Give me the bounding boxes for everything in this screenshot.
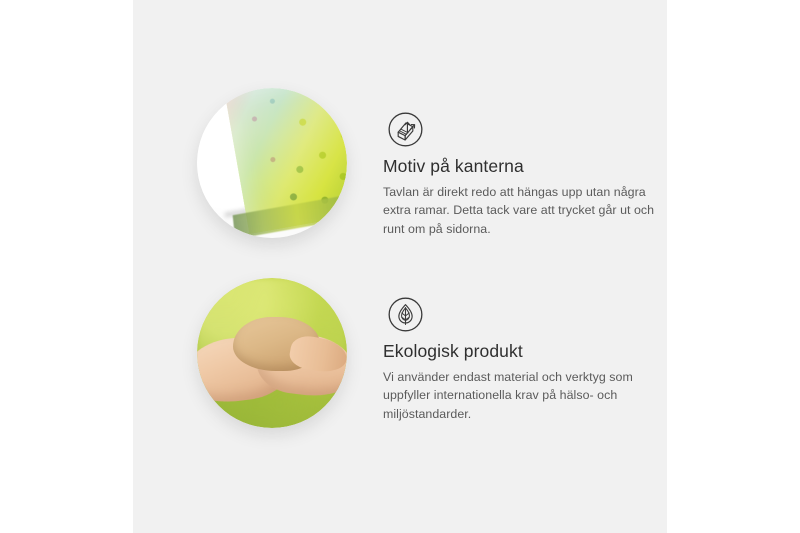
feature-title: Motiv på kanterna [383,156,658,177]
feature-title: Ekologisk produkt [383,341,658,362]
content-panel: Motiv på kanterna Tavlan är direkt redo … [133,0,667,533]
canvas-print-corner-photo [197,88,347,238]
feature-description: Vi använder endast material och verktyg … [383,368,658,423]
leaf-icon [387,296,424,333]
feature-description: Tavlan är direkt redo att hängas upp uta… [383,183,658,238]
photo-clip [197,88,347,238]
feature-text-block: Motiv på kanterna Tavlan är direkt redo … [383,156,658,238]
feature-text-block: Ekologisk produkt Vi använder endast mat… [383,341,658,423]
hands-holding-wood-chips-photo [197,278,347,428]
photo-clip [197,278,347,428]
product-feature-banner: Motiv på kanterna Tavlan är direkt redo … [0,0,800,533]
canvas-wrapped-edges-icon [387,111,424,148]
feature-block-ekologisk-produkt: Ekologisk produkt Vi använder endast mat… [133,255,667,445]
feature-block-motiv-pa-kanterna: Motiv på kanterna Tavlan är direkt redo … [133,70,667,260]
